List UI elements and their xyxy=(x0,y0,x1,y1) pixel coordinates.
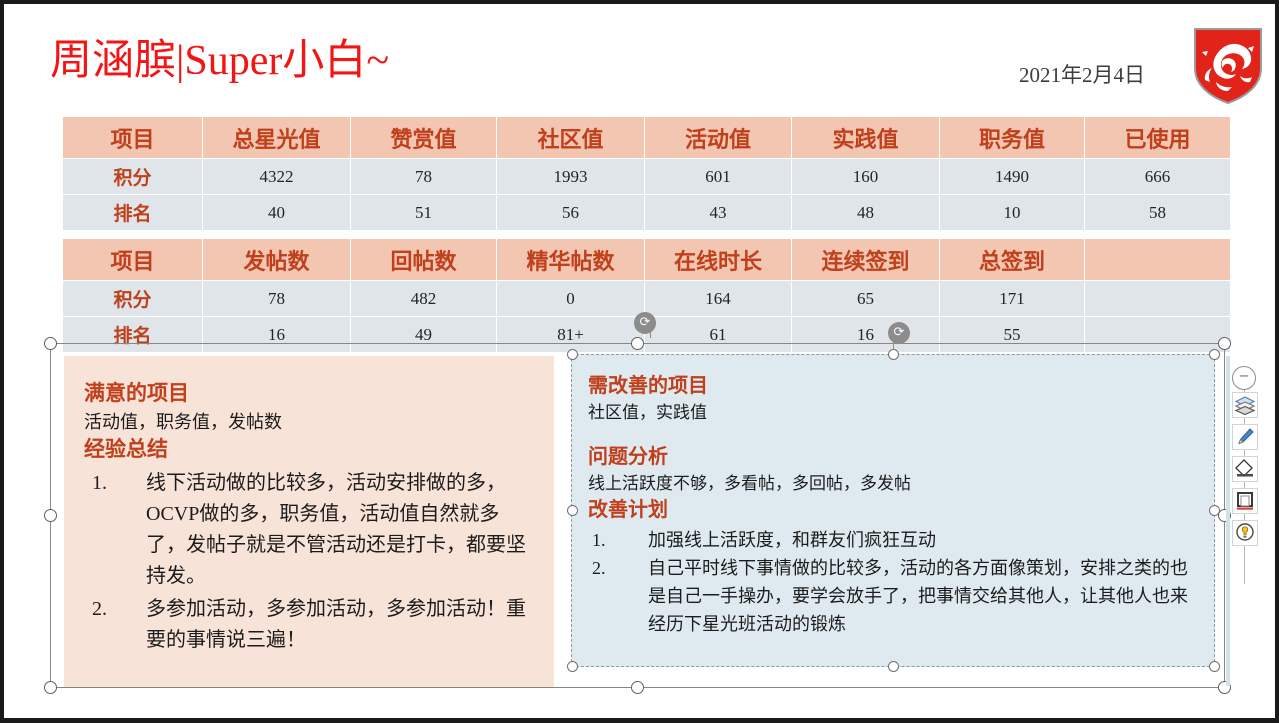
box-right-body-2: 线上活跃度不够，多看帖，多回帖，多发帖 xyxy=(588,471,1198,497)
improvement-items-textbox[interactable]: 需改善的项目 社区值，实践值 问题分析 线上活跃度不够，多看帖，多回帖，多发帖 … xyxy=(571,354,1215,667)
row-label: 排名 xyxy=(63,317,203,353)
msi-dragon-shield-logo-icon xyxy=(1190,24,1266,106)
cell: 61 xyxy=(645,317,792,353)
col-header: 精华帖数 xyxy=(497,239,645,281)
resize-handle-bottom-center[interactable] xyxy=(631,681,644,694)
cell: 601 xyxy=(645,159,792,195)
row-label: 排名 xyxy=(63,195,203,231)
resize-handle-top-center[interactable] xyxy=(631,337,644,350)
cell: 51 xyxy=(351,195,497,231)
box-right-list: 1. 加强线上活跃度，和群友们疯狂互动 2. 自己平时线下事情做的比较多，活动的… xyxy=(588,526,1198,638)
cell: 482 xyxy=(351,281,497,317)
list-item: 2. 多参加活动，多参加活动，多参加活动！重要的事情说三遍！ xyxy=(84,594,534,656)
col-header: 在线时长 xyxy=(645,239,792,281)
fill-bucket-icon[interactable] xyxy=(1232,456,1258,482)
cell: 48 xyxy=(792,195,940,231)
slide-canvas: 周涵膑|Super小白~ 2021年2月4日 项目 总星光值 赞赏值 xyxy=(0,0,1279,723)
layers-icon[interactable] xyxy=(1232,392,1258,418)
col-header: 发帖数 xyxy=(203,239,351,281)
list-item: 1. 线下活动做的比较多，活动安排做的多，OCVP做的多，职务值，活动值自然就多… xyxy=(84,468,534,592)
box-left-heading-2: 经验总结 xyxy=(84,436,534,464)
minus-circle-icon[interactable]: − xyxy=(1232,366,1256,390)
resize-handle-top-left[interactable] xyxy=(44,337,57,350)
cell: 81+ xyxy=(497,317,645,353)
list-number: 1. xyxy=(592,526,632,554)
inner-handle-bottom-center[interactable] xyxy=(888,661,899,672)
list-text: 加强线上活跃度，和群友们疯狂互动 xyxy=(648,530,936,550)
inner-handle-top-right[interactable] xyxy=(1209,349,1220,360)
activity-table[interactable]: 项目 发帖数 回帖数 精华帖数 在线时长 连续签到 总签到 积分 78 482 … xyxy=(62,238,1231,353)
col-header: 赞赏值 xyxy=(351,117,497,159)
frame-icon[interactable] xyxy=(1232,488,1258,514)
col-header: 项目 xyxy=(63,239,203,281)
format-side-rail[interactable] xyxy=(1232,392,1258,577)
col-header: 社区值 xyxy=(497,117,645,159)
col-header: 总签到 xyxy=(940,239,1085,281)
row-label: 积分 xyxy=(63,159,203,195)
list-number: 1. xyxy=(92,468,132,499)
cell: 49 xyxy=(351,317,497,353)
cell: 0 xyxy=(497,281,645,317)
cell-empty xyxy=(1085,317,1231,353)
cell: 55 xyxy=(940,317,1085,353)
satisfied-items-textbox[interactable]: 满意的项目 活动值，职务值，发帖数 经验总结 1. 线下活动做的比较多，活动安排… xyxy=(64,356,554,687)
page-title: 周涵膑|Super小白~ xyxy=(50,37,389,85)
cell: 10 xyxy=(940,195,1085,231)
col-header: 回帖数 xyxy=(351,239,497,281)
resize-handle-bottom-left[interactable] xyxy=(44,681,57,694)
cell: 16 xyxy=(792,317,940,353)
cell-empty xyxy=(1085,281,1231,317)
box-left-heading-1: 满意的项目 xyxy=(84,380,534,408)
list-text: 多参加活动，多参加活动，多参加活动！重要的事情说三遍！ xyxy=(146,598,526,651)
cell: 16 xyxy=(203,317,351,353)
col-header: 已使用 xyxy=(1085,117,1231,159)
rotate-handle-group[interactable]: ⟳ xyxy=(634,312,656,334)
col-header-empty xyxy=(1085,239,1231,281)
list-number: 2. xyxy=(592,554,632,582)
col-header: 实践值 xyxy=(792,117,940,159)
cell: 58 xyxy=(1085,195,1231,231)
box-left-body-1: 活动值，职务值，发帖数 xyxy=(84,408,534,436)
inner-handle-middle-right[interactable] xyxy=(1209,505,1220,516)
cell: 171 xyxy=(940,281,1085,317)
cell: 43 xyxy=(645,195,792,231)
selection-edge-strip xyxy=(1226,356,1230,686)
cell: 65 xyxy=(792,281,940,317)
table-row[interactable]: 积分 4322 78 1993 601 160 1490 666 xyxy=(63,159,1231,195)
inner-handle-bottom-right[interactable] xyxy=(1209,661,1220,672)
box-right-heading-3: 改善计划 xyxy=(588,497,1198,524)
list-item: 2. 自己平时线下事情做的比较多，活动的各方面像策划，安排之类的也是自己一手操办… xyxy=(588,554,1198,638)
table-row[interactable]: 积分 78 482 0 164 65 171 xyxy=(63,281,1231,317)
box-right-heading-2: 问题分析 xyxy=(588,444,1198,471)
points-table[interactable]: 项目 总星光值 赞赏值 社区值 活动值 实践值 职务值 已使用 积分 4322 … xyxy=(62,116,1231,231)
cell: 666 xyxy=(1085,159,1231,195)
table-row[interactable]: 排名 40 51 56 43 48 10 58 xyxy=(63,195,1231,231)
rotate-handle-textbox[interactable]: ⟳ xyxy=(888,322,910,344)
row-label: 积分 xyxy=(63,281,203,317)
list-number: 2. xyxy=(92,594,132,625)
box-right-body-1: 社区值，实践值 xyxy=(588,400,1198,426)
cell: 78 xyxy=(351,159,497,195)
lightbulb-icon[interactable] xyxy=(1232,520,1258,546)
cell: 4322 xyxy=(203,159,351,195)
col-header: 职务值 xyxy=(940,117,1085,159)
inner-handle-top-left[interactable] xyxy=(567,349,578,360)
cell: 1993 xyxy=(497,159,645,195)
cell: 78 xyxy=(203,281,351,317)
col-header: 总星光值 xyxy=(203,117,351,159)
table-header-row: 项目 总星光值 赞赏值 社区值 活动值 实践值 职务值 已使用 xyxy=(63,117,1231,159)
cell: 56 xyxy=(497,195,645,231)
cell: 164 xyxy=(645,281,792,317)
cell: 1490 xyxy=(940,159,1085,195)
list-text: 线下活动做的比较多，活动安排做的多，OCVP做的多，职务值，活动值自然就多了，发… xyxy=(146,472,526,587)
box-left-list: 1. 线下活动做的比较多，活动安排做的多，OCVP做的多，职务值，活动值自然就多… xyxy=(84,468,534,656)
resize-handle-middle-left[interactable] xyxy=(44,509,57,522)
col-header: 连续签到 xyxy=(792,239,940,281)
table-header-row: 项目 发帖数 回帖数 精华帖数 在线时长 连续签到 总签到 xyxy=(63,239,1231,281)
list-text: 自己平时线下事情做的比较多，活动的各方面像策划，安排之类的也是自己一手操办，要学… xyxy=(648,558,1188,634)
inner-handle-middle-left[interactable] xyxy=(567,505,578,516)
list-item: 1. 加强线上活跃度，和群友们疯狂互动 xyxy=(588,526,1198,554)
cell: 160 xyxy=(792,159,940,195)
inner-handle-bottom-left[interactable] xyxy=(567,661,578,672)
col-header: 项目 xyxy=(63,117,203,159)
brush-icon[interactable] xyxy=(1232,424,1258,450)
col-header: 活动值 xyxy=(645,117,792,159)
cell: 40 xyxy=(203,195,351,231)
inner-handle-top-center[interactable] xyxy=(888,349,899,360)
slide-date: 2021年2月4日 xyxy=(1019,62,1145,88)
resize-handle-top-right[interactable] xyxy=(1218,337,1231,350)
box-right-heading-1: 需改善的项目 xyxy=(588,373,1198,400)
